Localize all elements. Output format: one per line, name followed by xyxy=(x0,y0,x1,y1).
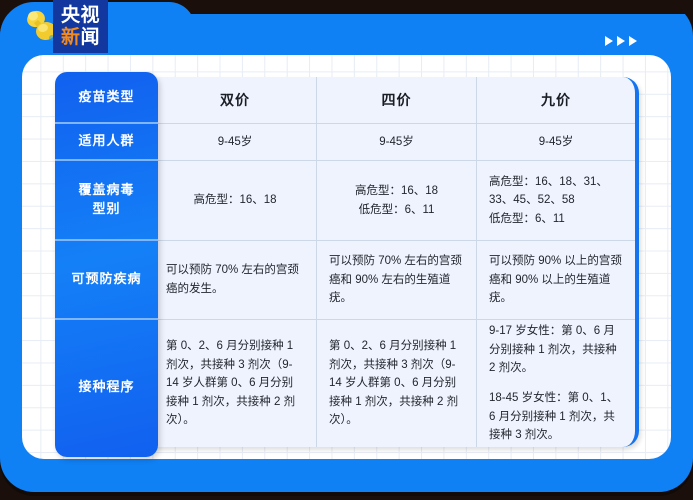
column-header-quadrivalent: 四价 xyxy=(317,77,477,123)
coverage-line: 高危型：16、18、31、33、45、52、58 xyxy=(489,173,623,210)
cell-coverage-bivalent: 高危型：16、18 xyxy=(154,161,317,240)
cell-age-quadrivalent: 9-45岁 xyxy=(317,124,477,160)
coverage-lines-bivalent: 高危型：16、18 xyxy=(193,191,276,210)
logo-char-xin: 新 xyxy=(61,26,81,48)
logo-line-2: 新闻 xyxy=(61,28,100,47)
table-body: 双价 四价 九价 9-45岁 9-45岁 9-45岁 高危型：16、18 高危型… xyxy=(154,77,639,447)
table-row-schedule: 第 0、2、6 月分别接种 1 剂次，共接种 3 剂次（9-14 岁人群第 0、… xyxy=(154,320,635,447)
schedule-line: 18-45 岁女性：第 0、1、6 月分别接种 1 剂次，共接种 3 剂次。 xyxy=(489,389,623,445)
row-label-schedule: 接种程序 xyxy=(55,320,158,455)
cell-schedule-nonavalent: 9-17 岁女性：第 0、6 月分别接种 1 剂次，共接种 2 剂次。18-45… xyxy=(477,320,635,447)
cell-schedule-bivalent: 第 0、2、6 月分别接种 1 剂次，共接种 3 剂次（9-14 岁人群第 0、… xyxy=(154,320,317,447)
row-label-covered-types: 覆盖病毒型别 xyxy=(55,161,158,241)
table-row-covered-types: 高危型：16、18 高危型：16、18低危型：6、11 高危型：16、18、31… xyxy=(154,161,635,241)
arrow-right-icon-2 xyxy=(617,36,625,46)
schedule-lines-quadrivalent: 第 0、2、6 月分别接种 1 剂次，共接种 3 剂次（9-14 岁人群第 0、… xyxy=(329,337,464,430)
arrow-right-icon-3 xyxy=(629,36,637,46)
table-row-age-group: 9-45岁 9-45岁 9-45岁 xyxy=(154,124,635,161)
coverage-line: 高危型：16、18 xyxy=(355,182,438,201)
arrow-right-icon-1 xyxy=(605,36,613,46)
column-header-nonavalent: 九价 xyxy=(477,77,635,123)
cell-coverage-nonavalent: 高危型：16、18、31、33、45、52、58低危型：6、11 xyxy=(477,161,635,240)
schedule-lines-nonavalent: 9-17 岁女性：第 0、6 月分别接种 1 剂次，共接种 2 剂次。18-45… xyxy=(489,322,623,445)
infographic-canvas: 央视 新闻 双价 四价 九价 9-45岁 9-45岁 9-45岁 高危型：16、… xyxy=(0,0,693,500)
table-row-preventable-disease: 可以预防 70% 左右的宫颈癌的发生。 可以预防 70% 左右的宫颈癌和 90%… xyxy=(154,241,635,320)
row-label-target-group: 适用人群 xyxy=(55,124,158,161)
schedule-lines-bivalent: 第 0、2、6 月分别接种 1 剂次，共接种 3 剂次（9-14 岁人群第 0、… xyxy=(166,337,304,430)
cell-prevent-quadrivalent: 可以预防 70% 左右的宫颈癌和 90% 左右的生殖道疣。 xyxy=(317,241,477,319)
cell-coverage-quadrivalent: 高危型：16、18低危型：6、11 xyxy=(317,161,477,240)
vaccine-comparison-table: 双价 四价 九价 9-45岁 9-45岁 9-45岁 高危型：16、18 高危型… xyxy=(154,77,639,447)
coverage-line: 低危型：6、11 xyxy=(489,210,623,229)
coverage-lines-nonavalent: 高危型：16、18、31、33、45、52、58低危型：6、11 xyxy=(489,173,623,229)
schedule-line: 9-17 岁女性：第 0、6 月分别接种 1 剂次，共接种 2 剂次。 xyxy=(489,322,623,378)
table-header-row: 双价 四价 九价 xyxy=(154,77,635,124)
cell-age-bivalent: 9-45岁 xyxy=(154,124,317,160)
cell-prevent-bivalent: 可以预防 70% 左右的宫颈癌的发生。 xyxy=(154,241,317,319)
triple-right-arrow-icon xyxy=(605,36,637,46)
coverage-line: 低危型：6、11 xyxy=(355,201,438,220)
coverage-lines-quadrivalent: 高危型：16、18低危型：6、11 xyxy=(355,182,438,219)
cctv-news-logo: 央视 新闻 xyxy=(53,0,108,53)
cell-age-nonavalent: 9-45岁 xyxy=(477,124,635,160)
row-label-covered-types-text: 覆盖病毒型别 xyxy=(78,181,134,219)
cell-prevent-nonavalent: 可以预防 90% 以上的宫颈癌和 90% 以上的生殖道疣。 xyxy=(477,241,635,319)
cell-schedule-quadrivalent: 第 0、2、6 月分别接种 1 剂次，共接种 3 剂次（9-14 岁人群第 0、… xyxy=(317,320,477,447)
schedule-line: 第 0、2、6 月分别接种 1 剂次，共接种 3 剂次（9-14 岁人群第 0、… xyxy=(329,337,464,430)
logo-line-1: 央视 xyxy=(61,6,100,25)
row-label-vaccine-type: 疫苗类型 xyxy=(55,72,158,124)
row-label-column: 疫苗类型 适用人群 覆盖病毒型别 可预防疾病 接种程序 xyxy=(55,72,158,457)
logo-char-wen: 闻 xyxy=(81,26,101,48)
schedule-line: 第 0、2、6 月分别接种 1 剂次，共接种 3 剂次（9-14 岁人群第 0、… xyxy=(166,337,304,430)
row-label-preventable: 可预防疾病 xyxy=(55,241,158,320)
coverage-line: 高危型：16、18 xyxy=(193,191,276,210)
column-header-bivalent: 双价 xyxy=(154,77,317,123)
